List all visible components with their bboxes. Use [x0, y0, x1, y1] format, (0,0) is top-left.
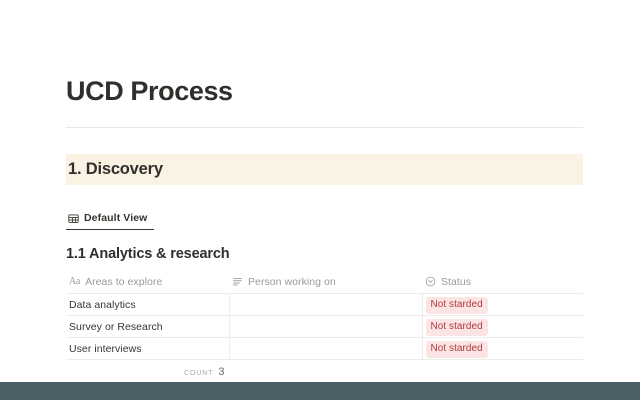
- cell-person-working-on[interactable]: [229, 293, 422, 315]
- column-header-status[interactable]: Status: [422, 271, 583, 293]
- section-heading-label: 1. Discovery: [68, 160, 163, 179]
- multiline-text-icon: [232, 276, 243, 287]
- table-row[interactable]: User interviews Not starded: [66, 337, 583, 359]
- cell-areas-to-explore[interactable]: User interviews: [66, 337, 229, 359]
- column-header-areas-to-explore[interactable]: Aa Areas to explore: [66, 271, 229, 293]
- status-badge: Not starded: [426, 341, 488, 358]
- table-body: Data analytics Not starded Survey or Res…: [66, 293, 583, 359]
- table-grid-icon: [68, 213, 79, 224]
- cell-text: Data analytics: [69, 299, 136, 311]
- cell-status[interactable]: Not starded: [422, 337, 583, 359]
- notion-page: UCD Process 1. Discovery Default View: [0, 0, 640, 400]
- cell-person-working-on[interactable]: [229, 337, 422, 359]
- column-header-label: Areas to explore: [85, 276, 162, 288]
- bottom-bar: [0, 382, 640, 400]
- database-table: Aa Areas to explore: [66, 271, 583, 360]
- view-tab-default-view[interactable]: Default View: [66, 210, 154, 230]
- column-header-label: Status: [441, 276, 471, 288]
- cell-areas-to-explore[interactable]: Survey or Research: [66, 315, 229, 337]
- database-title: 1.1 Analytics & research: [66, 246, 583, 262]
- cell-status[interactable]: Not starded: [422, 293, 583, 315]
- page-title: UCD Process: [66, 78, 583, 105]
- section-heading-discovery: 1. Discovery: [66, 154, 583, 185]
- view-tab-label: Default View: [84, 212, 147, 224]
- table-row[interactable]: Data analytics Not starded: [66, 293, 583, 315]
- cell-text: User interviews: [69, 343, 142, 355]
- cell-person-working-on[interactable]: [229, 315, 422, 337]
- column-header-label: Person working on: [248, 276, 336, 288]
- row-count[interactable]: Count 3: [184, 366, 225, 378]
- view-tab-bar: Default View: [66, 210, 583, 230]
- column-header-person-working-on[interactable]: Person working on: [229, 271, 422, 293]
- status-badge: Not starded: [426, 319, 488, 336]
- cell-status[interactable]: Not starded: [422, 315, 583, 337]
- table-footer: Count 3: [66, 366, 583, 378]
- title-divider: [66, 127, 583, 128]
- table-header-row: Aa Areas to explore: [66, 271, 583, 293]
- count-label: Count: [184, 370, 213, 377]
- table-row[interactable]: Survey or Research Not starded: [66, 315, 583, 337]
- cell-text: Survey or Research: [69, 321, 163, 333]
- select-circle-chevron-icon: [425, 276, 436, 287]
- count-value: 3: [218, 366, 224, 378]
- status-badge: Not starded: [426, 297, 488, 314]
- page-content: UCD Process 1. Discovery Default View: [66, 0, 583, 400]
- cell-areas-to-explore[interactable]: Data analytics: [66, 293, 229, 315]
- text-type-icon: Aa: [69, 277, 80, 287]
